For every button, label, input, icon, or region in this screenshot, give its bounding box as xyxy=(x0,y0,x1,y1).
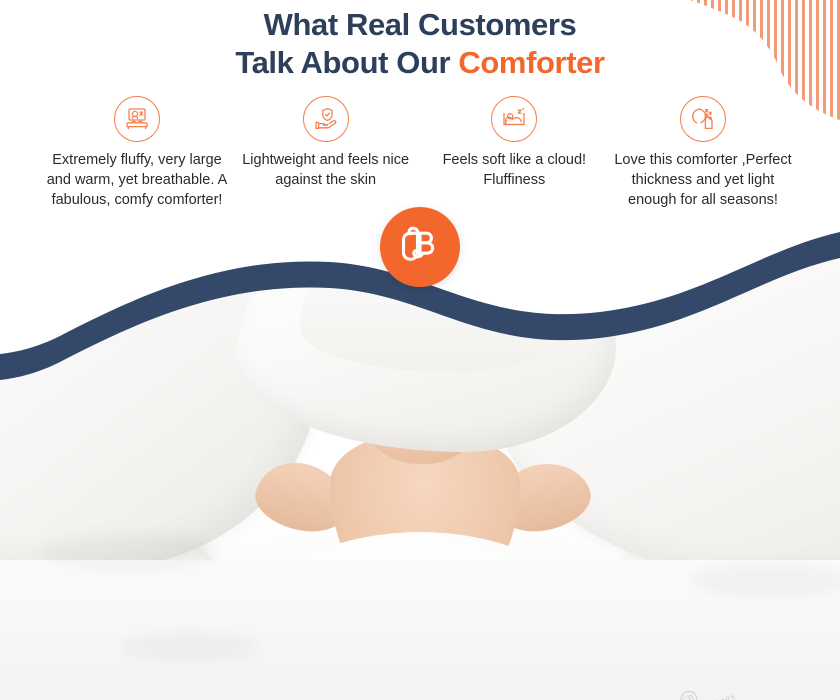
sheet-fold xyxy=(690,562,840,598)
testimonial-text: Feels soft like a cloud! Fluffiness xyxy=(423,150,605,190)
testimonial-text: Love this comforter ,Perfect thickness a… xyxy=(612,150,794,210)
testimonial-text: Lightweight and feels nice against the s… xyxy=(235,150,417,190)
person-sleeping-in-bed-icon xyxy=(114,96,160,142)
testimonial-item: Lightweight and feels nice against the s… xyxy=(235,96,417,190)
headline-line-2-prefix: Talk About Our xyxy=(235,45,458,80)
moon-zzz-sleeping-cat-icon xyxy=(680,96,726,142)
testimonial-item: Extremely fluffy, very large and warm, y… xyxy=(46,96,228,210)
hand-holding-shield-check-icon xyxy=(303,96,349,142)
testimonial-list: Extremely fluffy, very large and warm, y… xyxy=(46,96,794,210)
brand-logo-badge[interactable] xyxy=(380,207,460,287)
headline-line-2: Talk About Our Comforter xyxy=(0,44,840,82)
page-title: What Real Customers Talk About Our Comfo… xyxy=(0,6,840,82)
headline-accent-word: Comforter xyxy=(458,45,604,80)
testimonial-item: Feels soft like a cloud! Fluffiness xyxy=(423,96,605,190)
hero-photo: CB Comfort Beddings SINCE 1984 xyxy=(0,232,840,700)
promo-banner: CB Comfort Beddings SINCE 1984 xyxy=(0,0,840,700)
sheet-fold xyxy=(120,632,260,662)
testimonial-text: Extremely fluffy, very large and warm, y… xyxy=(46,150,228,210)
sheet-fold xyxy=(40,532,220,572)
headline-line-1: What Real Customers xyxy=(0,6,840,44)
testimonial-item: Love this comforter ,Perfect thickness a… xyxy=(612,96,794,210)
person-sleeping-cloud-icon xyxy=(491,96,537,142)
